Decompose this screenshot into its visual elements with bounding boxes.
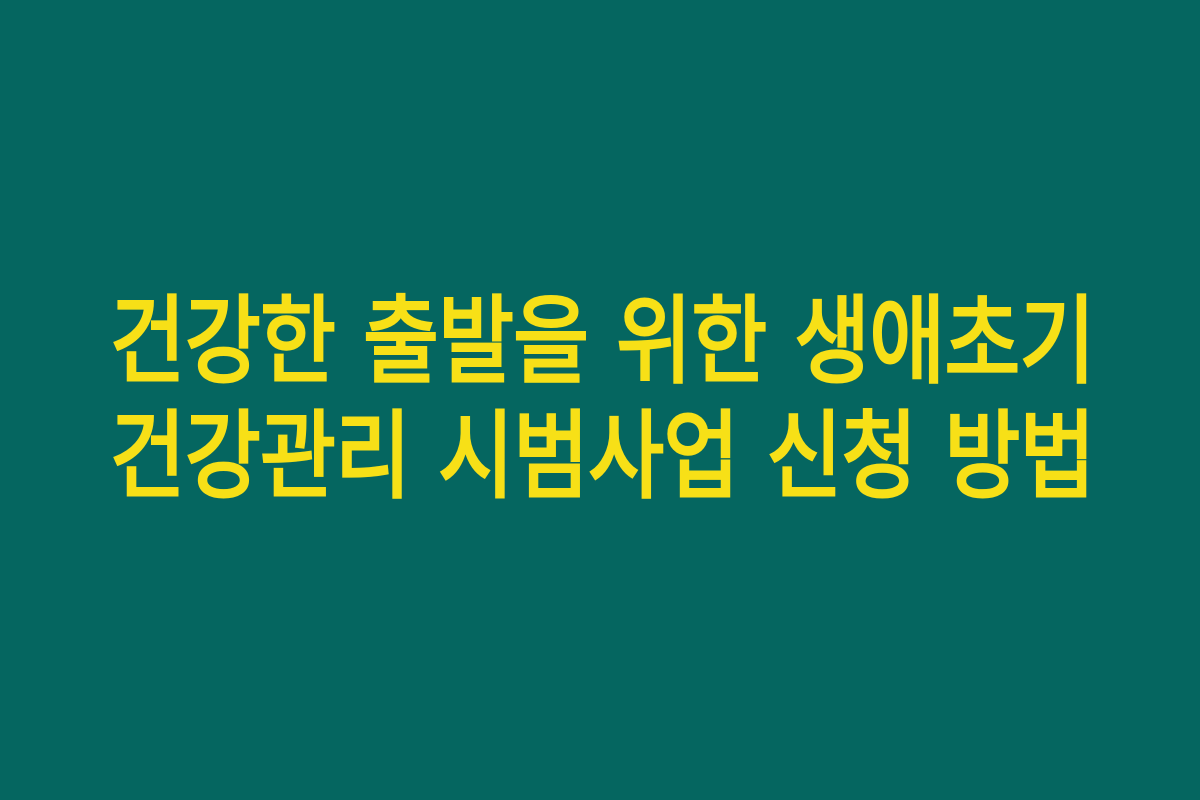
banner-card: 건강한 출발을 위한 생애초기 건강관리 시범사업 신청 방법	[0, 0, 1200, 800]
page-title-line-1: 건강한 출발을 위한 생애초기	[110, 284, 1090, 399]
page-title: 건강한 출발을 위한 생애초기 건강관리 시범사업 신청 방법	[0, 284, 1200, 514]
page-title-line-2: 건강관리 시범사업 신청 방법	[110, 399, 1090, 514]
